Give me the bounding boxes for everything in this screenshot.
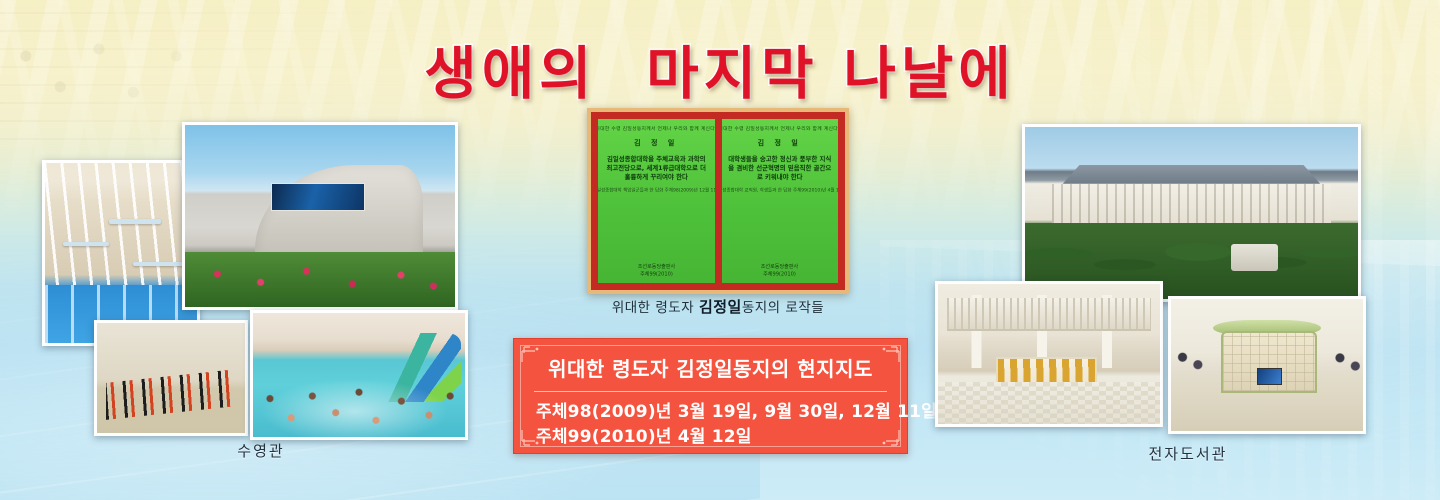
book-slogan: 위대한 수령 김일성동지께서 언제나 우리와 함께 계신다!: [598, 127, 715, 133]
caption-books: 위대한 령도자 김정일동지의 로작들: [560, 296, 876, 317]
book-subtitle: 《김일성종합대학 책임일군들과 한 담화 주체98(2009)년 12월 11일…: [598, 187, 715, 194]
desk-monitor: [1257, 368, 1282, 386]
photo-electronic-library-image: [1171, 299, 1363, 431]
building-facade: [1052, 184, 1332, 229]
diving-board: [133, 262, 185, 266]
book-publish-year: 주체99(2010): [640, 272, 673, 278]
book-publisher-name: 조선로동당출판사: [761, 263, 798, 269]
lobby-balcony: [947, 298, 1151, 331]
page-title: 생애의 마지막 나날에: [0, 28, 1440, 110]
photo-electronic-library: [1168, 296, 1366, 434]
photo-water-park: [250, 310, 468, 440]
photo-diving-pool-image: [45, 163, 197, 343]
caption-books-suffix: 동지의 로작들: [742, 300, 824, 316]
infobox-date-line-2: 주체99(2010)년 4월 12일: [524, 425, 897, 450]
book-subtitle: 《김일성종합대학 교직원, 학생들과 한 담화 주체99(2010)년 4월 1…: [722, 187, 839, 194]
books-inner-frame: 위대한 수령 김일성동지께서 언제나 우리와 함께 계신다! 김 정 일 김일성…: [591, 112, 845, 290]
exercise-machine-row: [106, 369, 236, 420]
photo-gym-equipment-image: [97, 323, 245, 433]
book-title: 김일성종합대학을 주체교육과 과학의 최고전당으로, 세계1류급대학으로 더 훌…: [604, 155, 709, 183]
book-cover-right: 위대한 수령 김일성동지께서 언제나 우리와 함께 계신다! 김 정 일 대학생…: [722, 119, 839, 283]
stone-monument: [1231, 244, 1278, 272]
infobox-divider: [534, 391, 887, 392]
photo-sports-hall-exterior: [182, 122, 458, 310]
caption-books-name: 김정일: [699, 298, 742, 316]
diving-board: [63, 242, 109, 246]
photo-sports-hall-exterior-image: [185, 125, 455, 307]
photo-university-exterior-image: [1025, 127, 1358, 299]
lobby-floor: [938, 382, 1160, 424]
book-author: 김 정 일: [758, 139, 802, 148]
caption-electronic-library: 전자도서관: [1083, 443, 1293, 464]
photo-diving-pool: [42, 160, 200, 346]
caption-swimming-hall: 수영관: [196, 440, 326, 461]
book-publisher: 조선로동당출판사 주체99(2010): [761, 263, 798, 279]
caption-books-prefix: 위대한 령도자: [612, 300, 699, 316]
diving-board: [109, 219, 161, 224]
building-led-screen: [271, 183, 365, 210]
poster-canvas: 생애의 마지막 나날에 수영관 위대한 수령 김일성동지께서 언제나: [0, 0, 1440, 500]
photo-library-lobby: [935, 281, 1163, 427]
book-slogan: 위대한 수령 김일성동지께서 언제나 우리와 함께 계신다!: [722, 127, 839, 133]
book-cover-left: 위대한 수령 김일성동지께서 언제나 우리와 함께 계신다! 김 정 일 김일성…: [598, 119, 715, 283]
photo-university-exterior: [1022, 124, 1361, 302]
book-title: 대학생들을 숭고한 정신과 풍부한 지식을 겸비한 선군혁명의 믿음직한 골간으…: [728, 155, 833, 183]
books-panel: 위대한 수령 김일성동지께서 언제나 우리와 함께 계신다! 김 정 일 김일성…: [587, 108, 849, 294]
photo-library-lobby-image: [938, 284, 1160, 424]
book-publisher-name: 조선로동당출판사: [638, 263, 675, 269]
building-curved-facade: [255, 165, 422, 260]
infobox-date-line-1: 주체98(2009)년 3월 19일, 9월 30일, 12월 11일: [524, 400, 897, 425]
book-author: 김 정 일: [634, 139, 678, 148]
photo-water-park-image: [253, 313, 465, 437]
photo-gym-equipment: [94, 320, 248, 436]
onsite-guidance-box: 위대한 령도자 김정일동지의 현지지도 주체98(2009)년 3월 19일, …: [513, 338, 908, 454]
infobox-heading: 위대한 령도자 김정일동지의 현지지도: [524, 347, 897, 391]
book-publisher: 조선로동당출판사 주체99(2010): [638, 263, 675, 279]
building-roof: [1052, 165, 1332, 184]
swimmers-in-pool: [253, 373, 465, 437]
flower-bed: [185, 252, 455, 307]
book-publish-year: 주체99(2010): [763, 272, 796, 278]
